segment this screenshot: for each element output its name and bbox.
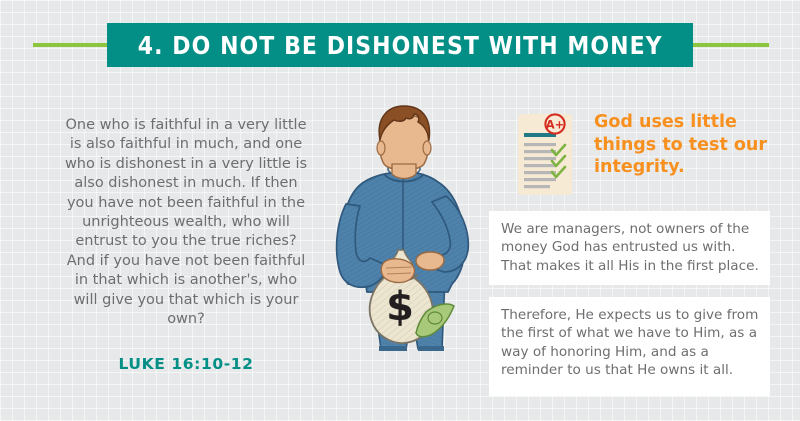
header: 4. Do Not Be Dishonest With Money	[0, 23, 800, 67]
scripture-quote-block: { } One who is faithful in a very little…	[36, 112, 336, 382]
info-card: We are managers, not owners of the money…	[489, 211, 770, 285]
page-title: 4. Do Not Be Dishonest With Money	[138, 31, 663, 60]
money-bag-symbol: $	[386, 284, 414, 330]
graded-test-paper-icon: A+	[517, 113, 573, 196]
headline-text: God uses little things to test our integ…	[594, 111, 784, 179]
grade-stamp: A+	[545, 114, 564, 133]
title-banner: 4. Do Not Be Dishonest With Money	[107, 23, 693, 67]
slide-canvas: 4. Do Not Be Dishonest With Money { } On…	[0, 0, 800, 421]
info-card: Therefore, He expects us to give from th…	[489, 297, 770, 396]
header-rule-left	[33, 43, 109, 47]
quote-citation: LUKE 16:10-12	[64, 355, 308, 373]
info-card-text: We are managers, not owners of the money…	[501, 221, 759, 274]
header-rule-right	[691, 43, 769, 47]
info-card-text: Therefore, He expects us to give from th…	[501, 307, 758, 378]
businessman-illustration: $	[326, 100, 490, 400]
quote-text: One who is faithful in a very little is …	[64, 116, 308, 329]
svg-text:A+: A+	[546, 117, 565, 131]
headline-row: A+ God uses little things to test our in…	[517, 113, 783, 203]
brace-left-icon: {	[36, 112, 62, 360]
